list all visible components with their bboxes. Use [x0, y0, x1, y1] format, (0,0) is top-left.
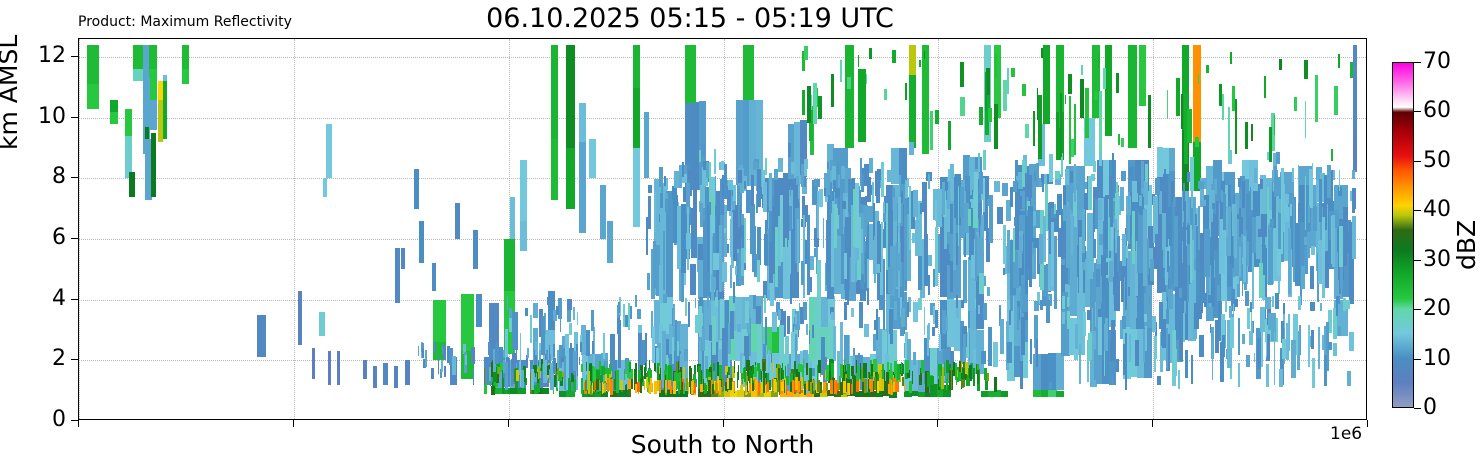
reflectivity-cell	[680, 378, 682, 390]
reflectivity-cell	[983, 150, 985, 170]
reflectivity-cell	[1305, 176, 1306, 230]
reflectivity-cell	[1352, 170, 1355, 179]
reflectivity-cell	[556, 306, 559, 315]
reflectivity-cell	[1098, 54, 1100, 68]
reflectivity-cell	[1249, 331, 1253, 345]
x-axis-tick	[937, 420, 938, 427]
reflectivity-cell	[670, 386, 672, 394]
reflectivity-cell	[901, 308, 905, 326]
reflectivity-cell	[319, 312, 325, 336]
reflectivity-cell	[712, 316, 716, 356]
reflectivity-cell	[1132, 211, 1135, 264]
reflectivity-cell	[1139, 195, 1143, 205]
reflectivity-cell	[775, 382, 777, 392]
reflectivity-cell	[709, 162, 711, 202]
reflectivity-cell	[573, 307, 575, 320]
reflectivity-cell	[579, 103, 586, 142]
reflectivity-cell	[898, 197, 901, 223]
reflectivity-cell	[1274, 332, 1275, 386]
reflectivity-cell	[681, 204, 686, 273]
reflectivity-cell	[720, 299, 724, 314]
reflectivity-cell	[1209, 190, 1215, 203]
reflectivity-cell	[1083, 182, 1087, 190]
reflectivity-cell	[785, 238, 787, 249]
reflectivity-cell	[1199, 308, 1202, 319]
reflectivity-cell	[633, 88, 640, 149]
reflectivity-cell	[942, 310, 946, 334]
reflectivity-cell	[1260, 307, 1264, 332]
reflectivity-cell	[1120, 187, 1124, 212]
reflectivity-cell	[641, 340, 645, 365]
reflectivity-cell	[1065, 95, 1066, 104]
reflectivity-cell	[858, 69, 866, 142]
x-axis-tick	[508, 420, 509, 427]
reflectivity-cell	[592, 341, 595, 354]
reflectivity-cell	[1141, 161, 1144, 188]
reflectivity-cell	[1140, 292, 1141, 304]
reflectivity-cell	[675, 320, 676, 360]
reflectivity-cell	[804, 46, 808, 60]
reflectivity-cell	[1121, 262, 1124, 302]
reflectivity-cell	[1162, 213, 1166, 247]
reflectivity-cell	[647, 273, 649, 290]
reflectivity-cell	[1034, 301, 1039, 311]
reflectivity-cell	[1288, 228, 1291, 295]
reflectivity-cell	[876, 264, 880, 273]
reflectivity-cell	[856, 360, 857, 373]
reflectivity-cell	[755, 365, 757, 376]
reflectivity-cell	[1195, 137, 1199, 148]
reflectivity-cell	[847, 291, 849, 304]
reflectivity-cell	[543, 360, 547, 383]
reflectivity-cell	[1136, 318, 1139, 329]
reflectivity-cell	[425, 350, 427, 367]
reflectivity-cell	[953, 362, 955, 376]
reflectivity-cell	[729, 378, 731, 390]
reflectivity-cell	[1003, 80, 1007, 110]
reflectivity-cell	[1353, 130, 1357, 172]
reflectivity-cell	[956, 295, 958, 309]
reflectivity-cell	[505, 362, 509, 391]
reflectivity-cell	[847, 364, 850, 380]
reflectivity-cell	[752, 383, 753, 391]
reflectivity-cell	[1352, 216, 1356, 259]
reflectivity-cell	[1015, 160, 1018, 176]
reflectivity-cell	[960, 62, 964, 87]
reflectivity-cell	[566, 45, 574, 148]
reflectivity-cell	[1254, 168, 1256, 183]
x-axis-tick	[78, 420, 79, 427]
reflectivity-cell	[1148, 95, 1151, 148]
reflectivity-cell	[627, 361, 629, 377]
reflectivity-cell	[950, 261, 953, 292]
reflectivity-cell	[337, 351, 340, 384]
reflectivity-cell	[1149, 297, 1150, 305]
reflectivity-cell	[684, 349, 688, 361]
reflectivity-cell	[685, 298, 687, 316]
reflectivity-cell	[1042, 181, 1045, 192]
reflectivity-cell	[1208, 295, 1213, 303]
reflectivity-cell	[563, 348, 565, 357]
reflectivity-cell	[950, 204, 953, 234]
reflectivity-cell	[1322, 217, 1325, 298]
reflectivity-cell	[844, 302, 847, 320]
reflectivity-cell	[129, 172, 135, 196]
reflectivity-cell	[1185, 350, 1188, 378]
reflectivity-cell	[1112, 153, 1114, 177]
reflectivity-cell	[703, 379, 704, 390]
reflectivity-cell	[1311, 246, 1314, 254]
reflectivity-cell	[328, 351, 331, 384]
reflectivity-cell	[1067, 297, 1069, 308]
reflectivity-cell	[744, 218, 745, 263]
reflectivity-cell	[533, 303, 538, 318]
reflectivity-cell	[1286, 323, 1289, 360]
reflectivity-cell	[1238, 363, 1240, 387]
reflectivity-cell	[718, 377, 719, 390]
reflectivity-cell	[1179, 288, 1182, 298]
reflectivity-cell	[1036, 163, 1039, 187]
reflectivity-cell	[626, 384, 627, 392]
reflectivity-cell	[864, 379, 866, 393]
reflectivity-cell	[1122, 234, 1126, 265]
reflectivity-cell	[1121, 138, 1125, 147]
reflectivity-cell	[907, 302, 909, 317]
reflectivity-cell	[1242, 334, 1245, 345]
reflectivity-cell	[871, 364, 874, 375]
colorbar-tick	[1414, 408, 1421, 409]
reflectivity-cell	[1268, 313, 1271, 330]
reflectivity-cell	[859, 379, 860, 390]
reflectivity-cell	[688, 302, 690, 328]
reflectivity-cell	[444, 366, 447, 377]
reflectivity-cell	[909, 75, 916, 148]
reflectivity-cell	[530, 315, 532, 343]
reflectivity-cell	[705, 346, 708, 356]
reflectivity-cell	[1002, 183, 1007, 196]
reflectivity-cell	[752, 226, 756, 272]
reflectivity-cell	[1040, 300, 1044, 310]
reflectivity-cell	[724, 233, 726, 258]
reflectivity-cell	[769, 173, 772, 211]
reflectivity-cell	[405, 360, 409, 384]
reflectivity-cell	[1025, 124, 1029, 138]
reflectivity-cell	[1279, 59, 1281, 71]
reflectivity-cell	[695, 298, 697, 308]
reflectivity-cell	[649, 385, 651, 394]
reflectivity-cell	[738, 367, 739, 378]
reflectivity-cell	[1032, 211, 1035, 226]
reflectivity-cell	[806, 363, 808, 375]
reflectivity-cell	[1339, 170, 1340, 191]
reflectivity-cell	[1152, 316, 1156, 331]
reflectivity-cell	[817, 380, 820, 392]
colorbar-tick	[1414, 111, 1421, 112]
reflectivity-cell	[1228, 107, 1230, 160]
reflectivity-cell	[691, 381, 693, 394]
reflectivity-cell	[1291, 340, 1296, 377]
reflectivity-cell	[852, 379, 853, 392]
reflectivity-cell	[887, 328, 888, 353]
reflectivity-cell	[549, 294, 552, 303]
reflectivity-cell	[795, 377, 797, 390]
reflectivity-cell	[1135, 340, 1139, 366]
reflectivity-cell	[868, 206, 873, 222]
x-axis-tick	[293, 420, 294, 427]
reflectivity-cell	[1215, 320, 1219, 353]
reflectivity-cell	[968, 311, 970, 327]
reflectivity-cell	[560, 312, 561, 332]
reflectivity-cell	[935, 227, 937, 286]
reflectivity-cell	[1038, 95, 1042, 159]
reflectivity-cell	[810, 277, 812, 292]
reflectivity-cell	[838, 198, 841, 215]
reflectivity-cell	[795, 199, 799, 208]
reflectivity-cell	[633, 148, 640, 227]
reflectivity-cell	[579, 357, 580, 366]
colorbar-tick-label: 0	[1423, 397, 1437, 419]
reflectivity-cell	[968, 209, 972, 227]
reflectivity-cell	[668, 365, 672, 380]
reflectivity-cell	[799, 303, 801, 326]
reflectivity-cell	[1199, 335, 1204, 357]
reflectivity-cell	[1325, 251, 1329, 288]
reflectivity-cell	[586, 330, 590, 356]
reflectivity-cell	[568, 378, 570, 395]
reflectivity-cell	[1232, 86, 1235, 111]
reflectivity-cell	[853, 189, 857, 247]
reflectivity-cell	[797, 381, 800, 392]
reflectivity-cell	[844, 253, 847, 279]
reflectivity-cell	[860, 363, 861, 378]
reflectivity-cell	[784, 380, 785, 393]
reflectivity-cell	[673, 304, 675, 331]
reflectivity-cell	[1145, 326, 1147, 351]
reflectivity-cell	[1304, 60, 1308, 79]
reflectivity-cell	[419, 221, 423, 263]
reflectivity-cell	[738, 186, 740, 227]
reflectivity-cell	[1013, 181, 1017, 192]
reflectivity-cell	[609, 378, 610, 391]
reflectivity-cell	[790, 274, 792, 303]
reflectivity-cell	[667, 214, 670, 231]
reflectivity-cell	[553, 358, 556, 373]
reflectivity-cell	[757, 169, 761, 207]
y-axis-tick	[71, 299, 78, 300]
reflectivity-cell	[887, 170, 893, 183]
reflectivity-cell	[1129, 334, 1130, 363]
reflectivity-cell	[714, 149, 716, 174]
reflectivity-cell	[585, 380, 587, 391]
reflectivity-cell	[1056, 353, 1064, 390]
reflectivity-cell	[1155, 234, 1158, 251]
reflectivity-cell	[813, 83, 817, 124]
reflectivity-cell	[842, 201, 846, 209]
reflectivity-cell	[1003, 225, 1006, 264]
reflectivity-cell	[965, 362, 967, 374]
reflectivity-cell	[1311, 330, 1314, 349]
reflectivity-cell	[521, 370, 523, 388]
reflectivity-cell	[806, 324, 808, 335]
reflectivity-cell	[1049, 154, 1053, 181]
reflectivity-cell	[922, 45, 929, 154]
reflectivity-cell	[803, 215, 805, 298]
reflectivity-cell	[617, 305, 619, 318]
reflectivity-cell	[753, 295, 756, 309]
reflectivity-cell	[818, 360, 821, 373]
reflectivity-cell	[920, 203, 921, 215]
reflectivity-cell	[858, 55, 860, 67]
reflectivity-cell	[881, 162, 884, 197]
reflectivity-cell	[719, 365, 722, 378]
reflectivity-cell	[434, 342, 437, 352]
reflectivity-cell	[1222, 94, 1224, 120]
reflectivity-cell	[1349, 332, 1354, 351]
reflectivity-cell	[1276, 152, 1280, 164]
reflectivity-cell	[511, 371, 513, 386]
reflectivity-cell	[623, 304, 625, 327]
reflectivity-cell	[873, 359, 877, 371]
reflectivity-cell	[731, 382, 734, 394]
reflectivity-cell	[441, 360, 443, 372]
reflectivity-cell	[1013, 228, 1015, 262]
reflectivity-cell	[1116, 73, 1120, 93]
reflectivity-cell	[1242, 181, 1245, 208]
reflectivity-cell	[591, 310, 594, 332]
reflectivity-cell	[570, 381, 571, 392]
reflectivity-cell	[894, 361, 897, 375]
reflectivity-cell	[635, 295, 637, 307]
reflectivity-cell	[663, 231, 665, 289]
reflectivity-cell	[713, 253, 719, 270]
reflectivity-cell	[418, 346, 419, 356]
reflectivity-cell	[1160, 250, 1162, 273]
reflectivity-cell	[831, 74, 834, 107]
reflectivity-cell	[1011, 68, 1015, 77]
reflectivity-cell	[133, 45, 143, 69]
reflectivity-cell	[1245, 291, 1249, 306]
reflectivity-cell	[1030, 339, 1032, 364]
reflectivity-cell	[581, 364, 584, 373]
reflectivity-cell	[570, 343, 573, 352]
reflectivity-cell	[515, 369, 516, 387]
reflectivity-cell	[594, 380, 595, 392]
reflectivity-cell	[722, 378, 724, 391]
reflectivity-cell	[1307, 232, 1310, 257]
reflectivity-cell	[946, 378, 948, 389]
reflectivity-cell	[765, 158, 767, 175]
reflectivity-cell	[707, 205, 709, 272]
reflectivity-cell	[874, 236, 876, 283]
reflectivity-cell	[163, 75, 167, 81]
reflectivity-cell	[734, 361, 736, 373]
reflectivity-cell	[960, 97, 964, 116]
reflectivity-cell	[1310, 302, 1315, 311]
reflectivity-cell	[1101, 255, 1106, 276]
reflectivity-cell	[640, 378, 642, 392]
reflectivity-cell	[1343, 207, 1347, 245]
reflectivity-cell	[298, 291, 302, 346]
reflectivity-cell	[1074, 164, 1076, 202]
reflectivity-cell	[1190, 157, 1193, 191]
y-axis-tick-label: 4	[0, 288, 66, 310]
reflectivity-cell	[1274, 115, 1276, 135]
reflectivity-cell	[683, 367, 685, 378]
reflectivity-cell	[1184, 301, 1186, 313]
reflectivity-cell	[1352, 190, 1355, 213]
reflectivity-cell	[520, 221, 527, 251]
reflectivity-cell	[1346, 300, 1350, 309]
reflectivity-cell	[604, 383, 607, 392]
reflectivity-cell	[837, 161, 840, 173]
reflectivity-cell	[110, 100, 118, 112]
reflectivity-cell	[874, 377, 876, 390]
reflectivity-cell	[757, 227, 761, 265]
reflectivity-cell	[1022, 84, 1026, 96]
reflectivity-cell	[1266, 364, 1270, 387]
reflectivity-cell	[744, 367, 746, 382]
reflectivity-cell	[1347, 233, 1350, 253]
reflectivity-cell	[504, 239, 515, 291]
reflectivity-cell	[935, 110, 939, 124]
reflectivity-cell	[733, 282, 735, 303]
reflectivity-cell	[1183, 313, 1185, 341]
reflectivity-cell	[901, 362, 902, 373]
reflectivity-cell	[1254, 353, 1255, 362]
reflectivity-cell	[778, 158, 783, 172]
reflectivity-cell	[717, 362, 719, 376]
reflectivity-cell	[549, 369, 551, 380]
reflectivity-cell	[909, 45, 916, 75]
colorbar-tick	[1414, 62, 1421, 63]
reflectivity-cell	[853, 348, 855, 356]
reflectivity-cell	[431, 368, 433, 379]
x-axis-tick	[723, 420, 724, 427]
reflectivity-cell	[787, 316, 790, 334]
reflectivity-cell	[664, 176, 666, 186]
reflectivity-cell	[1279, 369, 1283, 387]
reflectivity-cell	[1145, 164, 1148, 182]
reflectivity-cell	[693, 188, 697, 221]
reflectivity-cell	[1065, 169, 1069, 185]
reflectivity-cell	[1166, 309, 1169, 324]
reflectivity-cell	[1001, 391, 1008, 397]
x-axis-label: South to North	[78, 430, 1367, 459]
reflectivity-cell	[898, 213, 901, 288]
reflectivity-cell	[1121, 171, 1126, 181]
reflectivity-cell	[506, 340, 507, 352]
reflectivity-cell	[888, 267, 893, 293]
reflectivity-cell	[861, 175, 863, 193]
reflectivity-cell	[1168, 175, 1171, 206]
reflectivity-cell	[977, 370, 979, 384]
reflectivity-cell	[1305, 101, 1307, 137]
reflectivity-cell	[1043, 45, 1050, 124]
reflectivity-cell	[473, 230, 477, 269]
reflectivity-cell	[989, 195, 993, 243]
reflectivity-cell	[700, 203, 703, 228]
reflectivity-cell	[1315, 75, 1318, 123]
reflectivity-cell	[1198, 181, 1204, 189]
reflectivity-cell	[897, 253, 900, 272]
reflectivity-cell	[1308, 206, 1310, 223]
reflectivity-cell	[1298, 211, 1301, 221]
reflectivity-cell	[1058, 228, 1064, 257]
reflectivity-cell	[896, 382, 899, 391]
reflectivity-cell	[719, 225, 723, 291]
colorbar-tick	[1414, 309, 1421, 310]
reflectivity-cell	[672, 337, 674, 364]
